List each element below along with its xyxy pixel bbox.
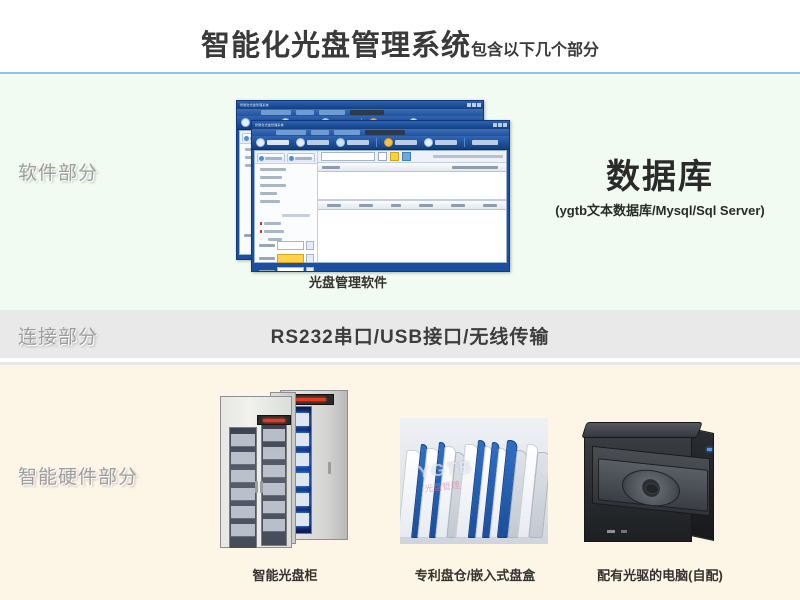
- window-controls-back[interactable]: [467, 103, 481, 107]
- window-controls-front[interactable]: [493, 123, 507, 127]
- folder-icon[interactable]: [390, 152, 399, 161]
- hint-text: [282, 214, 310, 217]
- menu-item[interactable]: [261, 110, 291, 115]
- disc-tray-image: YGTB 光盘管理: [400, 418, 548, 544]
- computer-image: [578, 418, 724, 544]
- grid-header2-front[interactable]: [318, 200, 506, 210]
- tree-item[interactable]: [260, 176, 282, 179]
- pc-top-panel: [581, 422, 702, 438]
- hardware-caption-cabinet: 智能光盘柜: [205, 565, 365, 584]
- pc-status-led-icon: [707, 448, 712, 451]
- menu-item-active[interactable]: [350, 110, 384, 115]
- minimize-icon[interactable]: [493, 123, 497, 127]
- cabinet-left-handle-2: [260, 481, 263, 493]
- toolbar-button-help[interactable]: [472, 140, 498, 145]
- grid-body-front[interactable]: [318, 172, 506, 200]
- cabinet-left-handle: [255, 481, 258, 493]
- tree-item-alert[interactable]: [260, 222, 313, 225]
- app-window-front[interactable]: 智能化光盘管理系统: [251, 120, 510, 272]
- form-row-highlight[interactable]: [259, 254, 314, 263]
- window-titlebar-back: 智能化光盘管理系统: [237, 101, 483, 109]
- search-input[interactable]: [321, 152, 375, 161]
- hardware-section-label: 智能硬件部分: [18, 462, 138, 489]
- poster-root: 智能化光盘管理系统包含以下几个部分 软件部分 连接部分 智能硬件部分 智能化光盘…: [0, 0, 800, 600]
- menu-item[interactable]: [311, 130, 329, 135]
- hardware-caption-tray: 专利盘仓/嵌入式盘盒: [395, 565, 555, 584]
- window-toolbar-front[interactable]: [252, 136, 509, 150]
- smart-cabinet-image: [218, 382, 350, 548]
- window-titlebar-front: 智能化光盘管理系统: [252, 121, 509, 129]
- database-subtitle: (ygtb文本数据库/Mysql/Sql Server): [520, 200, 800, 219]
- close-icon[interactable]: [477, 103, 481, 107]
- page-title: 智能化光盘管理系统包含以下几个部分: [0, 22, 800, 64]
- pc-power-button: [607, 530, 615, 533]
- left-pane-front[interactable]: [255, 151, 318, 262]
- menu-item[interactable]: [334, 130, 360, 135]
- connection-text: RS232串口/USB接口/无线传输: [240, 322, 580, 349]
- picker-button[interactable]: [306, 241, 314, 250]
- toolbar-button-import[interactable]: [256, 138, 289, 147]
- right-pane-front: [318, 151, 506, 262]
- maximize-icon[interactable]: [498, 123, 502, 127]
- refresh-icon[interactable]: [402, 152, 411, 161]
- pane-tab-detail[interactable]: [287, 153, 315, 162]
- minimize-icon[interactable]: [467, 103, 471, 107]
- grid-body2-front[interactable]: [318, 210, 506, 262]
- alert-dot-icon: [260, 230, 262, 233]
- window-body-front: [254, 150, 507, 263]
- menu-item[interactable]: [296, 110, 314, 115]
- connection-section-label: 连接部分: [18, 322, 98, 349]
- window-menubar-front[interactable]: [252, 129, 509, 136]
- page-title-main: 智能化光盘管理系统: [201, 30, 471, 62]
- grid-header-front[interactable]: [318, 163, 506, 172]
- search-meta-text: [433, 155, 503, 158]
- database-title: 数据库: [520, 160, 800, 194]
- tree-item-alert[interactable]: [260, 230, 313, 233]
- pane-tab-list[interactable]: [257, 153, 285, 162]
- tree-item[interactable]: [260, 200, 280, 203]
- detail-icon: [289, 156, 294, 161]
- toolbar-button-search[interactable]: [424, 138, 457, 147]
- menu-item-active[interactable]: [365, 130, 405, 135]
- window-title-text-back: 智能化光盘管理系统: [240, 103, 269, 107]
- page-title-sub: 包含以下几个部分: [471, 42, 599, 59]
- cabinet-left-body: [220, 396, 292, 548]
- software-caption: 光盘管理软件: [238, 272, 458, 291]
- search-bar-front[interactable]: [318, 151, 506, 163]
- hardware-caption-pc: 配有光驱的电脑(自配): [575, 565, 745, 584]
- tree-item[interactable]: [260, 184, 286, 187]
- list-icon: [259, 156, 264, 161]
- toolbar-button-query[interactable]: [336, 138, 369, 147]
- menu-item[interactable]: [319, 110, 345, 115]
- tree-list-front[interactable]: [255, 164, 317, 241]
- software-section-label: 软件部分: [18, 158, 98, 185]
- pc-reset-button: [621, 530, 627, 533]
- left-pane-tabs-front[interactable]: [255, 151, 317, 164]
- maximize-icon[interactable]: [472, 103, 476, 107]
- cabinet-left-led-display: [257, 415, 291, 425]
- cabinet-glass-door-left: [229, 427, 257, 548]
- tree-item[interactable]: [260, 168, 286, 171]
- title-band: 智能化光盘管理系统包含以下几个部分: [0, 0, 800, 73]
- cabinet-glass-door-right: [261, 424, 287, 546]
- cabinet-right-handle: [328, 462, 331, 474]
- menu-item[interactable]: [276, 130, 306, 135]
- close-icon[interactable]: [503, 123, 507, 127]
- form-area-front[interactable]: [255, 241, 317, 272]
- tree-item[interactable]: [260, 192, 277, 195]
- database-block: 数据库 (ygtb文本数据库/Mysql/Sql Server): [520, 160, 800, 219]
- window-menubar-back[interactable]: [237, 109, 483, 116]
- picker-button[interactable]: [306, 254, 314, 263]
- window-title-text-front: 智能化光盘管理系统: [255, 123, 284, 127]
- toolbar-button-settings[interactable]: [384, 138, 417, 147]
- tab-icon: [244, 136, 249, 141]
- form-row-barcode[interactable]: [259, 241, 314, 250]
- toolbar-button-export[interactable]: [296, 138, 329, 147]
- alert-dot-icon: [260, 222, 262, 225]
- search-icon[interactable]: [378, 152, 387, 161]
